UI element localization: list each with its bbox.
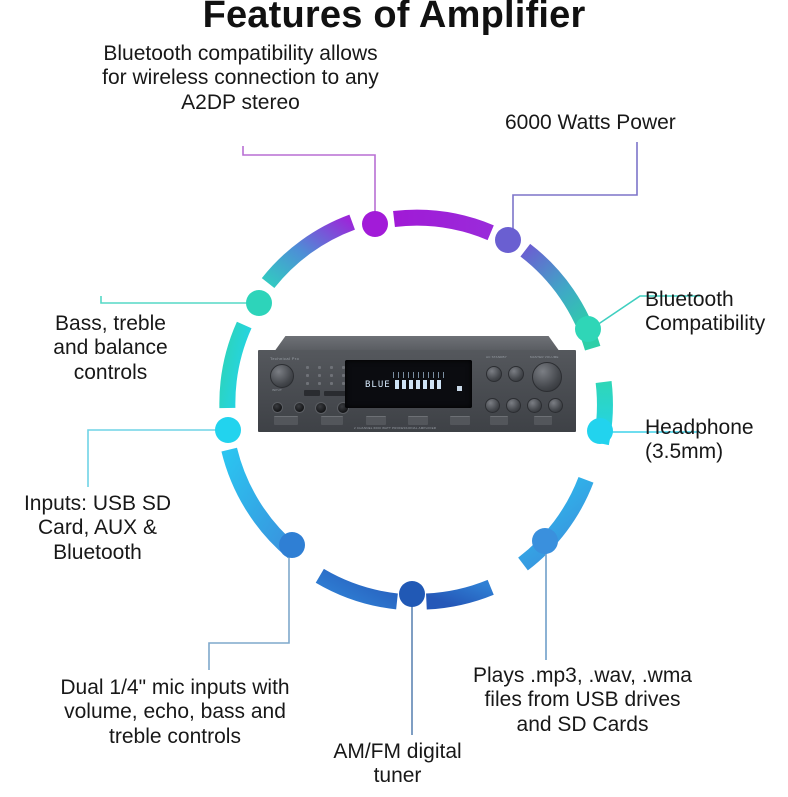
mic-jack-2 [315, 402, 327, 414]
display-text: BLUE [365, 380, 391, 390]
connector-mic-inputs [209, 552, 289, 670]
treble-knob [508, 366, 524, 382]
mic-vol-knob [506, 398, 521, 413]
master-volume-knob [532, 362, 562, 392]
connector-watts-power [513, 142, 637, 231]
label-bluetooth-compatibility: Bluetooth Compatibility [645, 288, 788, 337]
dot-amfm-tuner[interactable] [399, 581, 425, 607]
connector-bass-treble [101, 296, 256, 303]
dot-headphone[interactable] [587, 418, 613, 444]
arc-top-left [268, 222, 352, 283]
speaker-b-button [534, 416, 552, 425]
mic-jack-1 [272, 402, 283, 413]
amplifier-brand-text: Technical Pro [270, 356, 299, 361]
dot-bluetooth-a2dp[interactable] [362, 211, 388, 237]
arc-bottom-left [320, 576, 397, 602]
label-amfm-digital-tuner: AM/FM digital tuner [300, 740, 495, 789]
power-button [274, 416, 298, 425]
amplifier-bottom-text: 2 CHANNEL 6000 WATT PROFESSIONAL AMPLIFI… [354, 426, 436, 430]
arc-lower-right [523, 480, 586, 564]
label-mic-inputs: Dual 1/4" mic inputs with volume, echo, … [10, 676, 340, 749]
mic-echo-knob [548, 398, 563, 413]
display-segment-bars [395, 380, 443, 389]
amplifier-right-label-1: AC STANDBY [486, 355, 507, 359]
connector-inputs-usb [88, 430, 226, 487]
dot-mp3-files[interactable] [532, 528, 558, 554]
label-headphone-35mm: Headphone (3.5mm) [645, 416, 788, 465]
display-tick-marks [393, 372, 447, 378]
tune-button [408, 416, 428, 425]
memory-button [450, 416, 470, 425]
label-inputs-usb-sd: Inputs: USB SD Card, AUX & Bluetooth [0, 492, 195, 565]
connector-bluetooth-a2dp [243, 146, 375, 212]
dot-6000-watts[interactable] [495, 227, 521, 253]
amplifier-display: BLUE [345, 360, 472, 408]
amplifier-right-label-2: MASTER VOLUME [530, 355, 559, 359]
dot-mic-inputs[interactable] [279, 532, 305, 558]
speaker-a-button [490, 416, 508, 425]
dot-bass-treble[interactable] [246, 290, 272, 316]
arc-bottom-right [426, 587, 490, 601]
mode-button [321, 416, 343, 425]
label-bass-treble-balance: Bass, treble and balance controls [8, 312, 213, 385]
label-plays-mp3-wav-wma: Plays .mp3, .wav, .wma files from USB dr… [430, 664, 735, 737]
amplifier-product-image: Technical Pro INPUT [258, 336, 576, 432]
infographic-canvas: Features of Amplifier [0, 0, 788, 797]
headphone-jack [294, 402, 305, 413]
display-indicator-led [457, 386, 462, 391]
usb-port [304, 390, 320, 396]
balance-knob [527, 398, 542, 413]
echo-knob [485, 398, 500, 413]
band-button [366, 416, 386, 425]
dot-bluetooth-right[interactable] [575, 316, 601, 342]
label-bluetooth-a2dp: Bluetooth compatibility allows for wirel… [38, 42, 443, 115]
arc-left-upper [227, 325, 244, 408]
amplifier-front-panel: Technical Pro INPUT [258, 350, 576, 432]
dot-inputs-usb[interactable] [215, 417, 241, 443]
arc-top [394, 218, 491, 233]
input-selector-label: INPUT [272, 388, 282, 392]
bass-knob [486, 366, 502, 382]
input-selector-knob [270, 364, 294, 388]
label-6000-watts-power: 6000 Watts Power [505, 111, 780, 135]
